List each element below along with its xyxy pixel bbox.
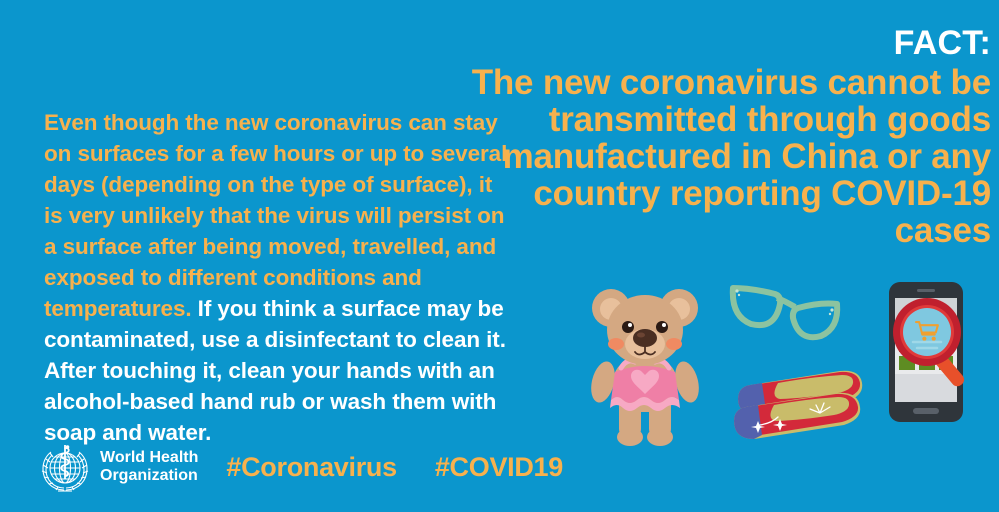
- fact-statement: The new coronavirus cannot be transmitte…: [471, 64, 991, 249]
- who-emblem-icon: [38, 440, 92, 494]
- who-logo: World Health Organization: [38, 440, 198, 494]
- eyeglasses-icon: [725, 270, 845, 350]
- fact-label: FACT:: [471, 24, 991, 62]
- body-copy-highlight: Even though the new coronavirus can stay…: [44, 110, 507, 321]
- hashtag-covid19[interactable]: #COVID19: [435, 452, 563, 483]
- hashtag-coronavirus[interactable]: #Coronavirus: [226, 452, 396, 483]
- footer: World Health Organization #Coronavirus #…: [38, 440, 563, 494]
- teddy-bear-icon: [585, 282, 705, 447]
- who-wordmark: World Health Organization: [100, 449, 198, 485]
- illustration-group: [575, 270, 995, 460]
- who-covid-fact-poster: FACT: The new coronavirus cannot be tran…: [0, 0, 999, 512]
- smartphone-icon: [875, 280, 985, 425]
- body-copy: Even though the new coronavirus can stay…: [44, 107, 514, 448]
- shoes-icon: [720, 365, 870, 445]
- fact-headline-block: FACT: The new coronavirus cannot be tran…: [471, 24, 991, 249]
